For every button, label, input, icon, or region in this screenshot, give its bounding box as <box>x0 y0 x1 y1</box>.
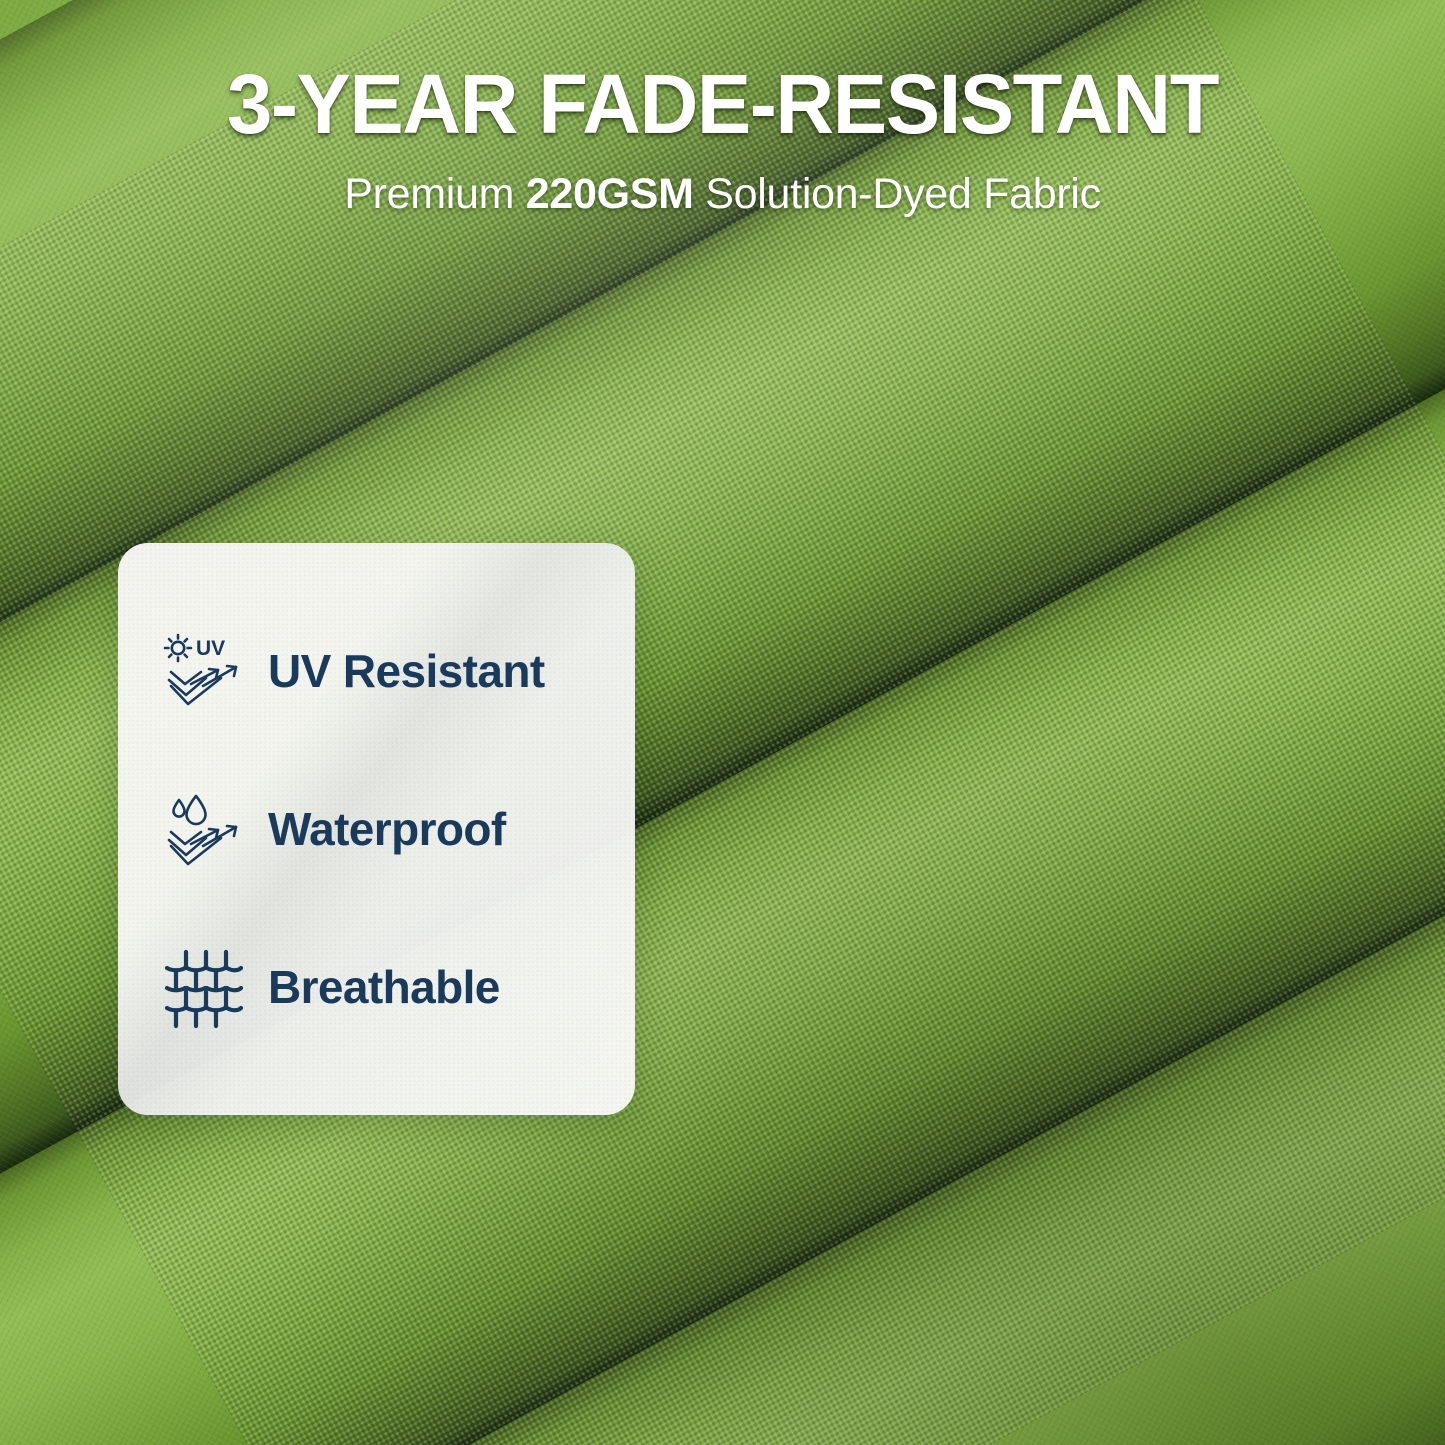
feature-label-waterproof: Waterproof <box>268 802 506 856</box>
uv-icon-text: UV <box>196 637 225 660</box>
waterproof-icon <box>158 786 250 872</box>
breathable-icon <box>158 944 250 1030</box>
feature-row-waterproof: Waterproof <box>158 750 635 908</box>
product-feature-image: 3-YEAR FADE-RESISTANT Premium 220GSM Sol… <box>0 0 1445 1445</box>
feature-row-breathable: Breathable <box>158 908 635 1066</box>
feature-label-breathable: Breathable <box>268 960 500 1014</box>
uv-resistant-icon: UV <box>158 628 250 714</box>
feature-row-uv-resistant: UV UV Resistant <box>158 592 635 750</box>
feature-card: UV UV Resistant <box>118 543 635 1115</box>
feature-label-uv-resistant: UV Resistant <box>268 644 545 698</box>
